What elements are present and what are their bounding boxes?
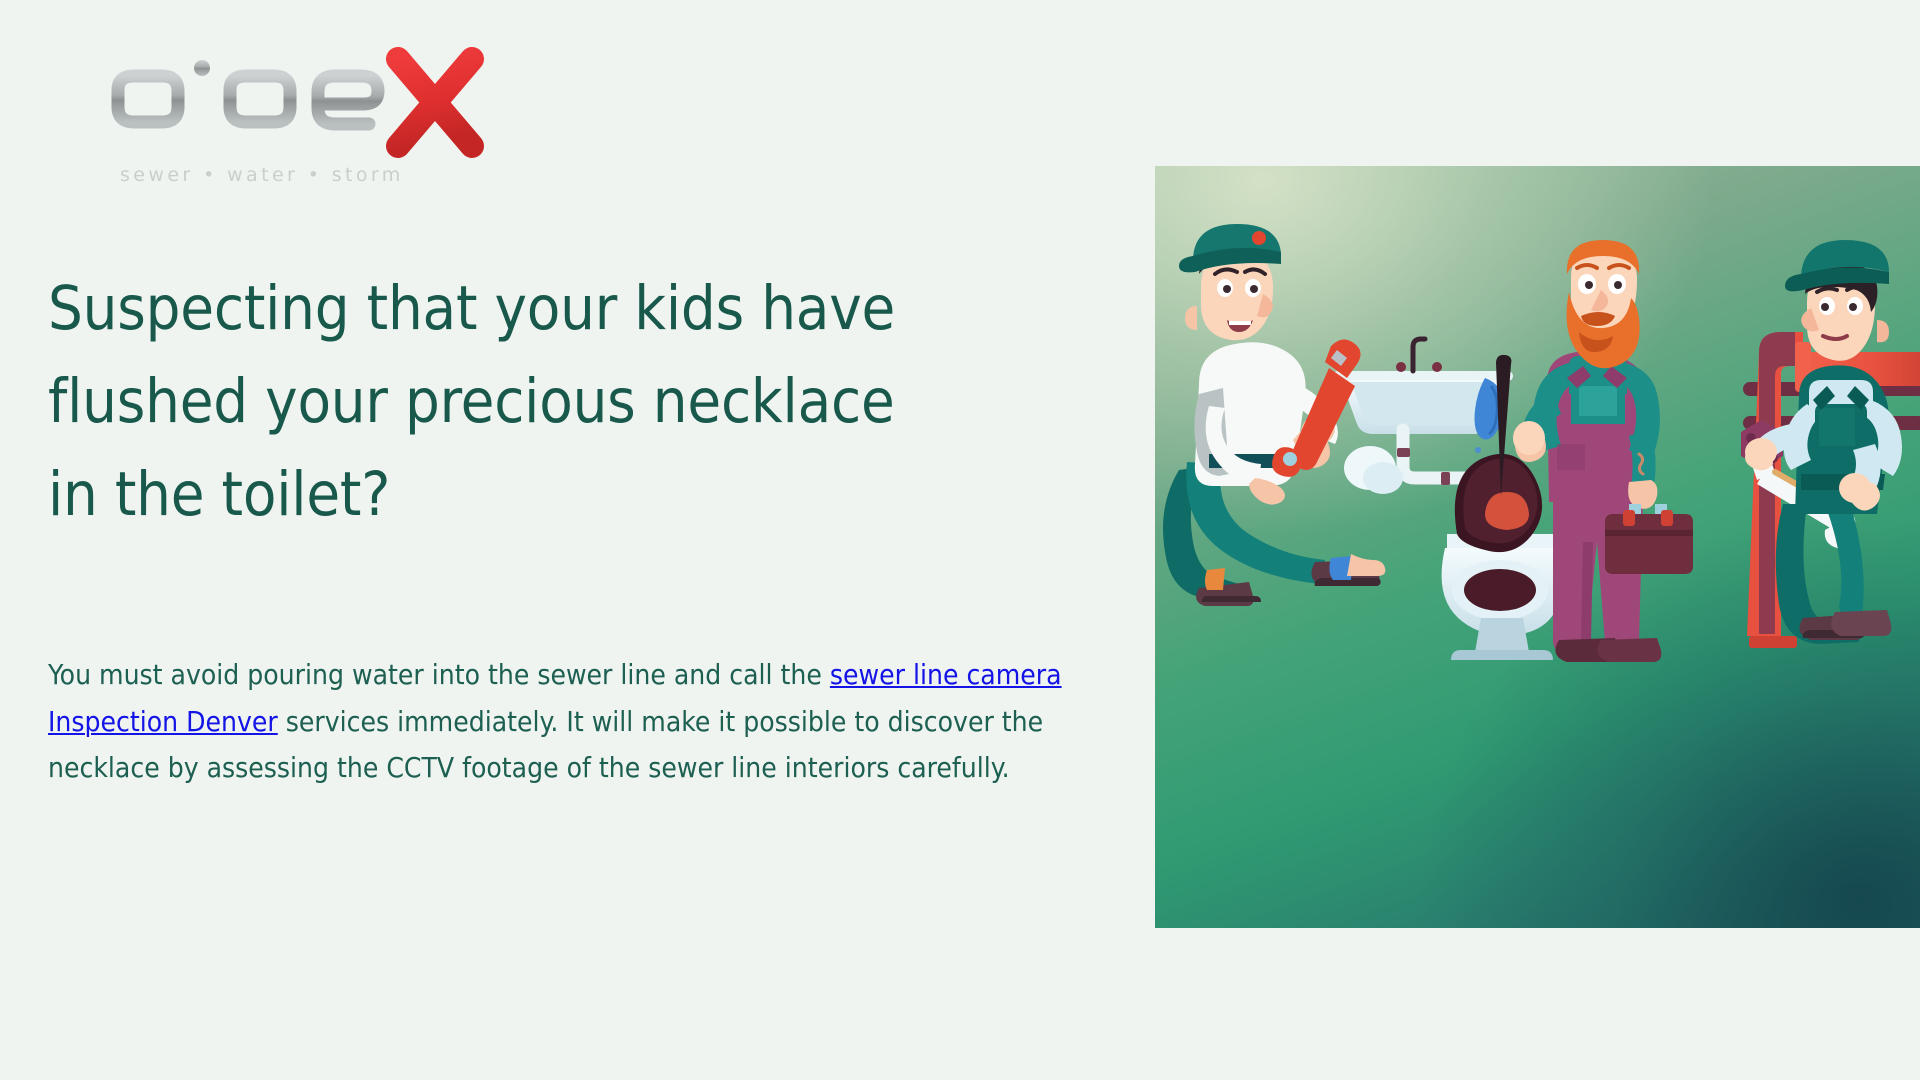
plumber-1-head	[1179, 224, 1281, 340]
hero-illustration	[1155, 166, 1920, 928]
plumber-1-body	[1163, 224, 1385, 606]
logo-graphic	[106, 42, 486, 166]
logo-wordmark	[106, 42, 486, 162]
figure-plumber-with-pipe-valve	[1741, 240, 1920, 648]
landing-page: sewer • water • storm Suspecting that yo…	[0, 0, 1920, 1080]
body-paragraph: You must avoid pouring water into the se…	[48, 652, 1083, 792]
paragraph-text-before-link: You must avoid pouring water into the se…	[48, 658, 830, 691]
brand-logo[interactable]: sewer • water • storm	[106, 42, 486, 190]
plumbers-illustration	[1155, 166, 1920, 928]
headline-line-2: flushed your precious necklace	[48, 355, 1138, 448]
page-title: Suspecting that your kids have flushed y…	[48, 262, 1138, 541]
logo-tagline: sewer • water • storm	[120, 164, 404, 186]
headline-line-3: in the toilet?	[48, 448, 1138, 541]
toolbox	[1605, 504, 1693, 574]
headline-line-1: Suspecting that your kids have	[48, 262, 1138, 355]
plumber-2-head	[1567, 240, 1640, 368]
